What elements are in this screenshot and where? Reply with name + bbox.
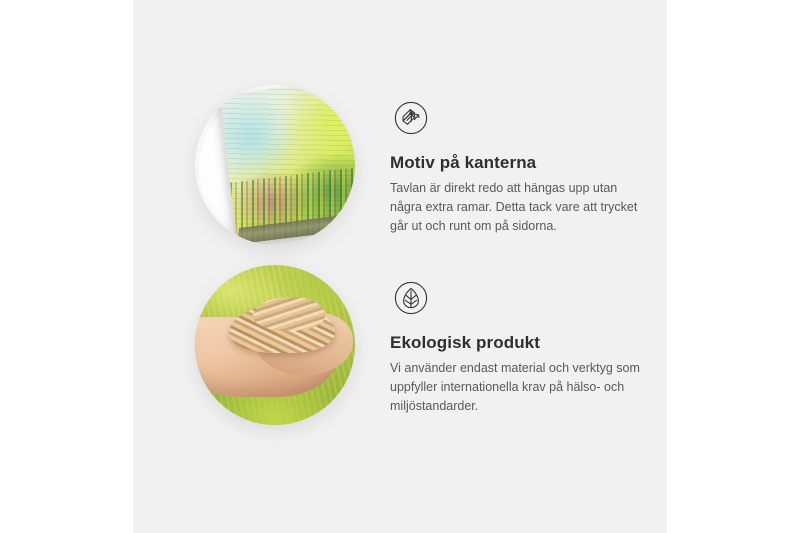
page-root: Motiv på kanterna Tavlan är direkt redo …: [0, 0, 800, 533]
feature-item-eco: Ekologisk produkt Vi använder endast mat…: [133, 265, 667, 465]
feature-text-column: Motiv på kanterna Tavlan är direkt redo …: [370, 85, 667, 236]
feature-description: Vi använder endast material och verktyg …: [390, 359, 642, 416]
canvas-wrapped-edges-icon: [390, 97, 432, 139]
feature-media-wrap: [195, 265, 370, 440]
feature-media-wrap: [195, 85, 370, 260]
wood-chips-top: [253, 297, 325, 331]
feature-item-edges: Motiv på kanterna Tavlan är direkt redo …: [133, 85, 667, 285]
canvas-print-object: [219, 85, 355, 244]
feature-title: Motiv på kanterna: [390, 153, 667, 173]
feature-text-column: Ekologisk produkt Vi använder endast mat…: [370, 265, 667, 416]
feature-title: Ekologisk produkt: [390, 333, 667, 353]
feature-description: Tavlan är direkt redo att hängas upp uta…: [390, 179, 642, 236]
eco-wood-chips-photo: [195, 265, 355, 425]
feature-list: Motiv på kanterna Tavlan är direkt redo …: [133, 0, 667, 533]
canvas-print-photo: [195, 85, 355, 245]
leaf-icon: [390, 277, 432, 319]
